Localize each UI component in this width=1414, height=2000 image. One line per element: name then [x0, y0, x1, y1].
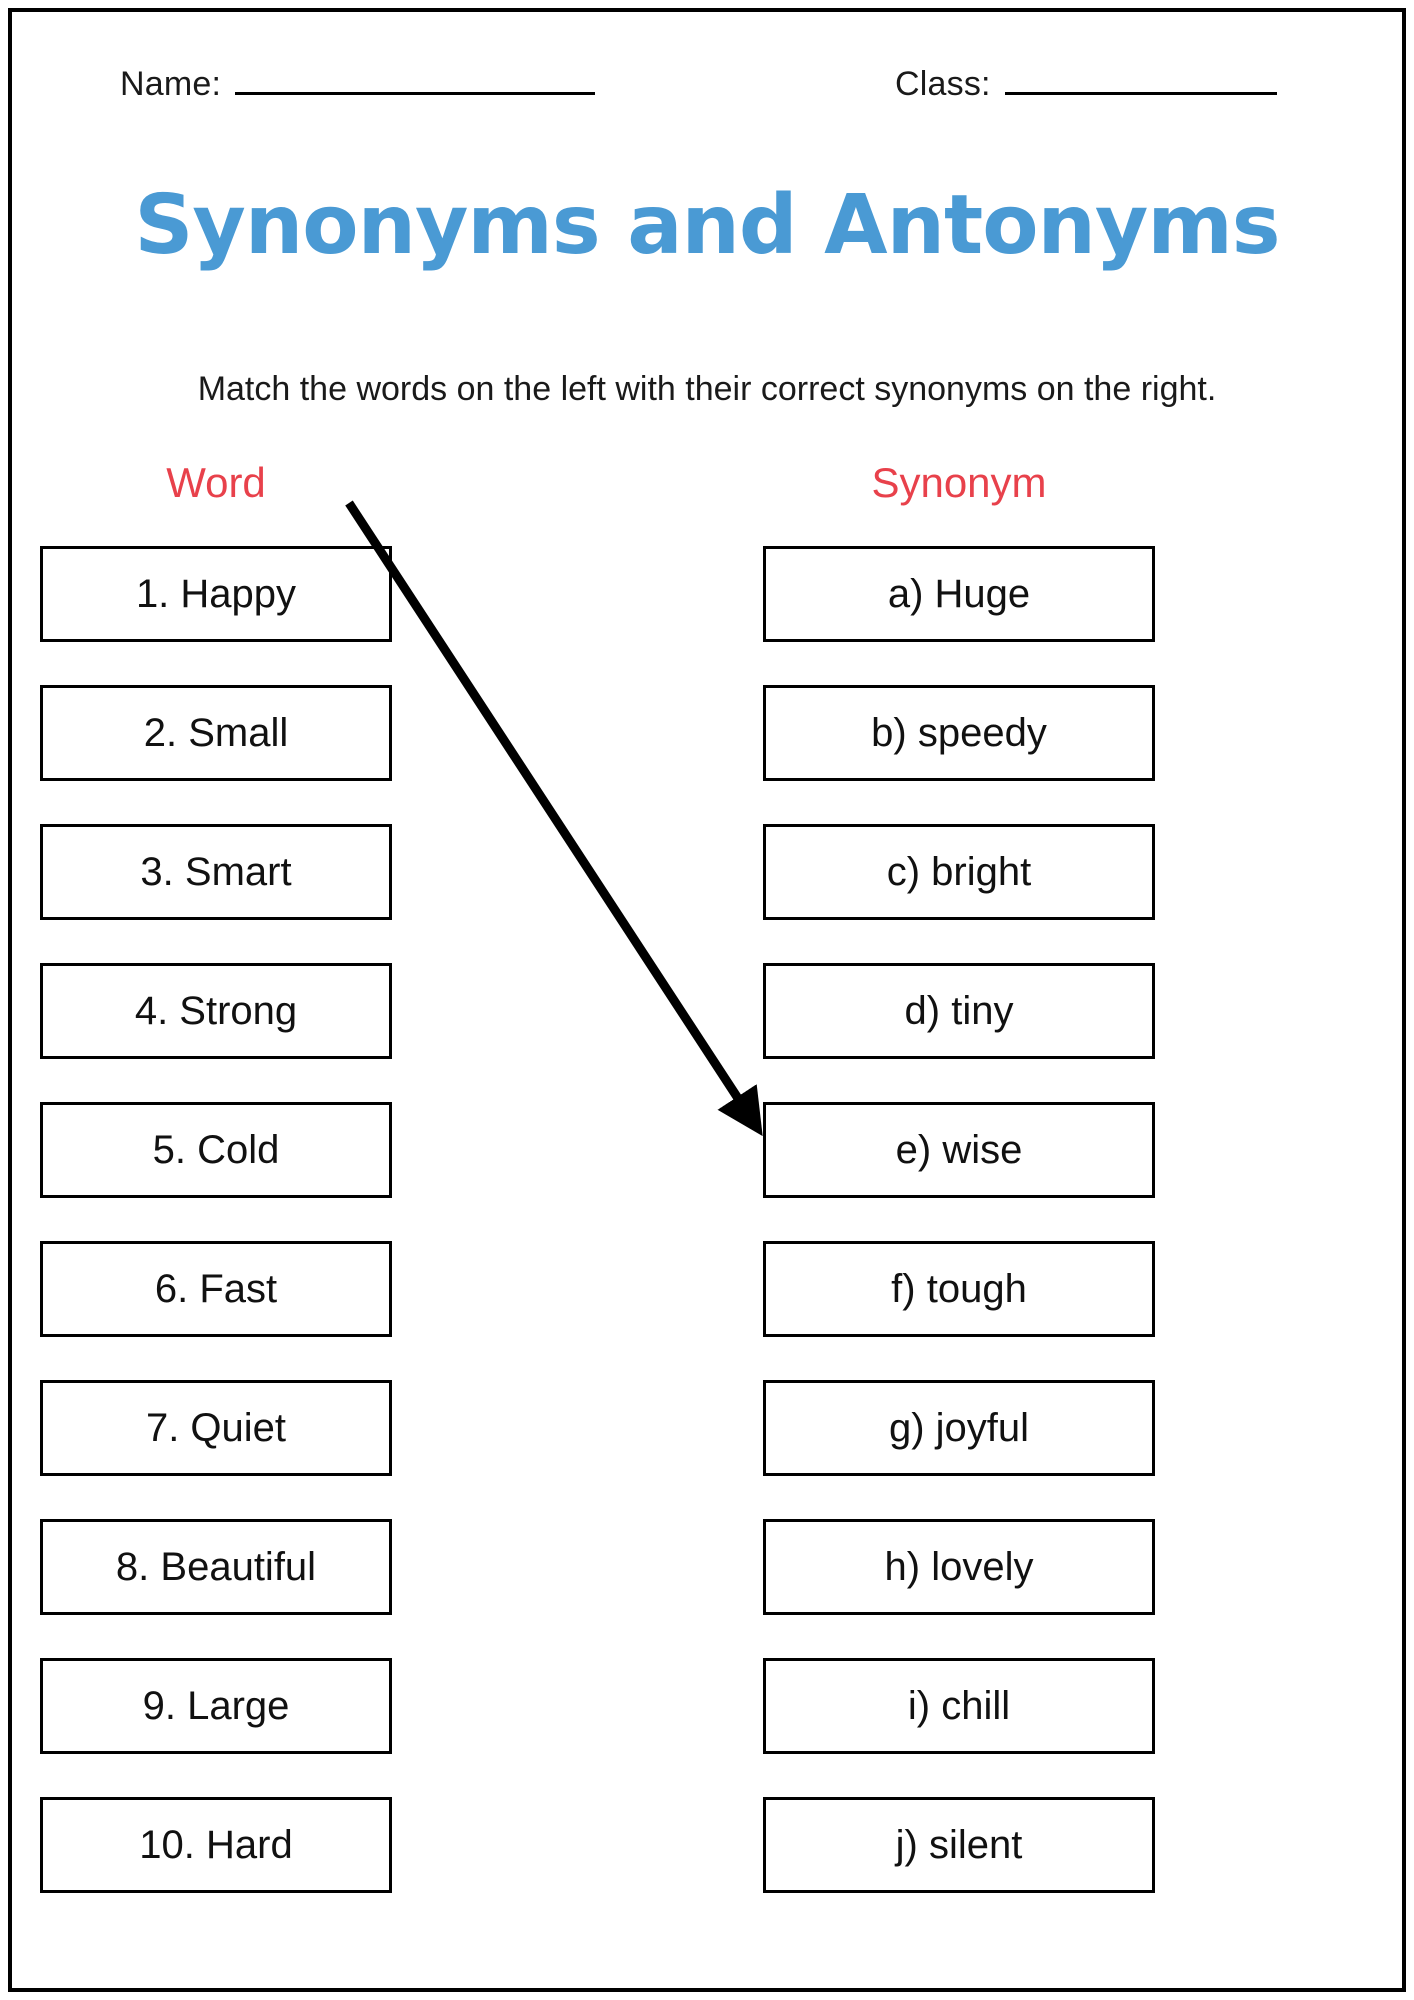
word-box-label: 9. Large: [143, 1684, 290, 1729]
synonym-box-label: g) joyful: [889, 1406, 1029, 1451]
synonym-box[interactable]: a) Huge: [763, 546, 1155, 642]
word-box[interactable]: 6. Fast: [40, 1241, 392, 1337]
name-field[interactable]: Name:: [120, 62, 595, 104]
synonym-box-label: j) silent: [896, 1823, 1023, 1868]
word-box-label: 10. Hard: [139, 1823, 292, 1868]
name-input-line[interactable]: [235, 62, 595, 95]
word-box[interactable]: 1. Happy: [40, 546, 392, 642]
synonym-box-label: h) lovely: [885, 1545, 1034, 1590]
synonym-box-label: a) Huge: [888, 572, 1030, 617]
word-box-label: 1. Happy: [136, 572, 296, 617]
synonym-box[interactable]: i) chill: [763, 1658, 1155, 1754]
word-box[interactable]: 10. Hard: [40, 1797, 392, 1893]
word-box-label: 6. Fast: [155, 1267, 277, 1312]
word-box[interactable]: 7. Quiet: [40, 1380, 392, 1476]
synonym-box-label: d) tiny: [905, 989, 1014, 1034]
synonym-box[interactable]: b) speedy: [763, 685, 1155, 781]
column-header-synonym: Synonym: [763, 456, 1155, 510]
worksheet-page: Name: Class: Synonyms and Antonyms Match…: [0, 0, 1414, 2000]
matching-columns: 1. Happy2. Small3. Smart4. Strong5. Cold…: [0, 546, 1414, 1906]
word-box-label: 2. Small: [144, 711, 289, 756]
synonym-box[interactable]: f) tough: [763, 1241, 1155, 1337]
class-input-line[interactable]: [1005, 62, 1277, 95]
synonym-box[interactable]: g) joyful: [763, 1380, 1155, 1476]
synonym-column: a) Hugeb) speedyc) brightd) tinye) wisef…: [763, 546, 1155, 1893]
column-header-word: Word: [40, 456, 392, 510]
synonym-box[interactable]: c) bright: [763, 824, 1155, 920]
student-info-row: Name: Class:: [0, 62, 1414, 132]
word-box[interactable]: 5. Cold: [40, 1102, 392, 1198]
word-column: 1. Happy2. Small3. Smart4. Strong5. Cold…: [40, 546, 392, 1893]
word-box[interactable]: 8. Beautiful: [40, 1519, 392, 1615]
word-box-label: 5. Cold: [153, 1128, 280, 1173]
synonym-box[interactable]: d) tiny: [763, 963, 1155, 1059]
word-box-label: 7. Quiet: [146, 1406, 286, 1451]
worksheet-title: Synonyms and Antonyms: [0, 178, 1414, 274]
synonym-box-label: e) wise: [896, 1128, 1023, 1173]
synonym-box-label: b) speedy: [871, 711, 1047, 756]
synonym-box[interactable]: j) silent: [763, 1797, 1155, 1893]
name-label: Name:: [120, 65, 221, 104]
word-box-label: 3. Smart: [140, 850, 291, 895]
word-box[interactable]: 9. Large: [40, 1658, 392, 1754]
word-box-label: 8. Beautiful: [116, 1545, 316, 1590]
worksheet-instructions: Match the words on the left with their c…: [0, 367, 1414, 411]
synonym-box[interactable]: e) wise: [763, 1102, 1155, 1198]
class-label: Class:: [895, 65, 991, 104]
word-box[interactable]: 2. Small: [40, 685, 392, 781]
word-box-label: 4. Strong: [135, 989, 297, 1034]
synonym-box[interactable]: h) lovely: [763, 1519, 1155, 1615]
word-box[interactable]: 3. Smart: [40, 824, 392, 920]
synonym-box-label: i) chill: [908, 1684, 1010, 1729]
synonym-box-label: c) bright: [887, 850, 1032, 895]
class-field[interactable]: Class:: [895, 62, 1277, 104]
synonym-box-label: f) tough: [891, 1267, 1027, 1312]
word-box[interactable]: 4. Strong: [40, 963, 392, 1059]
